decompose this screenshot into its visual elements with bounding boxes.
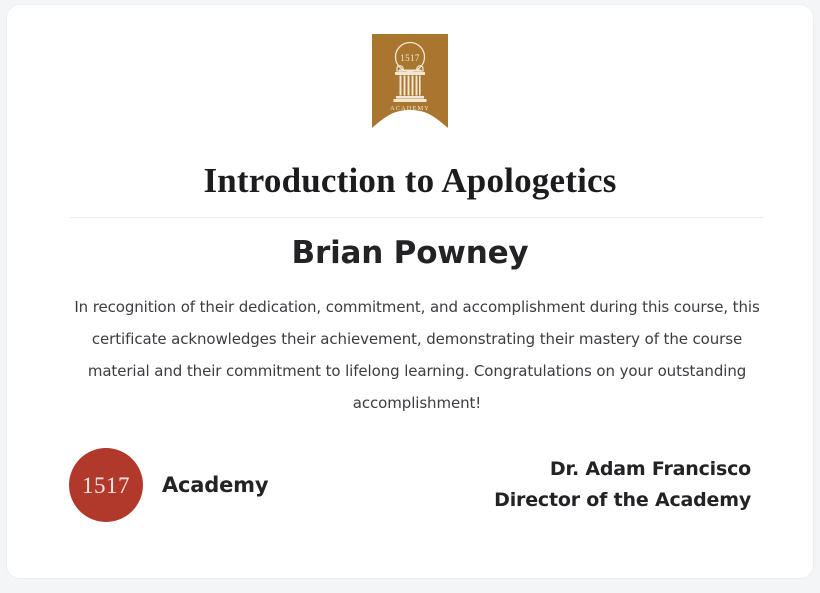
certificate-card: 1517 ACADEMY Introduction t — [6, 4, 814, 579]
certificate-footer: 1517 Academy Dr. Adam Francisco Director… — [69, 445, 751, 525]
signer-name: Dr. Adam Francisco — [494, 454, 751, 485]
svg-text:1517: 1517 — [400, 53, 420, 63]
seal-year-label: 1517 — [82, 474, 130, 497]
issuer-block: 1517 Academy — [69, 448, 268, 522]
logo-container: 1517 ACADEMY — [7, 34, 813, 128]
signer-title: Director of the Academy — [494, 485, 751, 516]
signature-block: Dr. Adam Francisco Director of the Acade… — [494, 454, 751, 516]
title-divider — [70, 217, 764, 218]
course-title: Introduction to Apologetics — [7, 160, 813, 202]
academy-seal-icon: 1517 — [69, 448, 143, 522]
issuer-name: Academy — [162, 473, 268, 497]
certificate-body-text: In recognition of their dedication, comm… — [69, 291, 765, 419]
academy-crest-icon: 1517 ACADEMY — [372, 34, 448, 128]
svg-text:ACADEMY: ACADEMY — [390, 105, 430, 112]
recipient-name: Brian Powney — [7, 233, 813, 273]
